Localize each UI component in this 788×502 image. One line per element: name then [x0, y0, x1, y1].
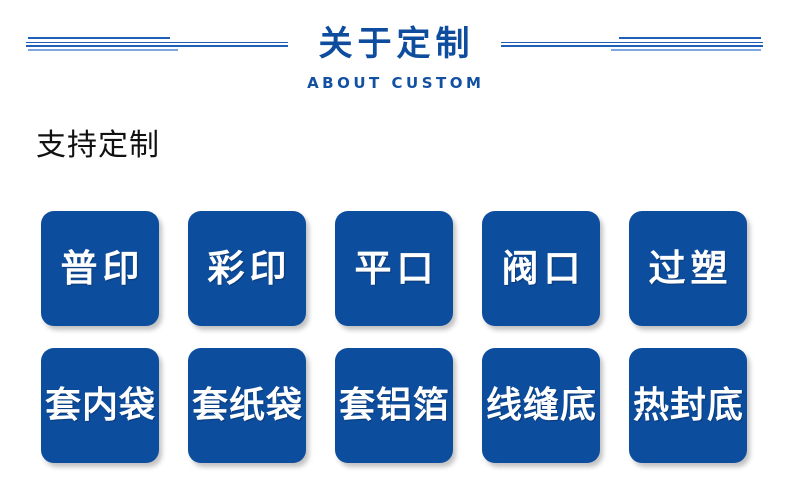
tile-label: 过塑	[644, 250, 733, 287]
deco-line-left-4	[28, 49, 178, 51]
tile-label: 普印	[56, 250, 145, 287]
section-title: 关于定制	[288, 27, 501, 61]
tile-label: 平口	[350, 250, 439, 287]
tile-label: 套纸袋	[191, 388, 303, 424]
deco-line-right-3	[501, 45, 763, 47]
deco-line-right-4	[611, 49, 761, 51]
tile-label: 彩印	[203, 250, 292, 287]
support-custom-heading: 支持定制	[36, 128, 160, 164]
option-tile-tao-zhi-dai[interactable]: 套纸袋	[188, 348, 306, 463]
option-tile-cai-yin[interactable]: 彩印	[188, 211, 306, 326]
option-tile-ping-kou[interactable]: 平口	[335, 211, 453, 326]
section-subtitle: ABOUT CUSTOM	[0, 74, 788, 92]
tile-label: 热封底	[632, 388, 744, 424]
option-tile-pu-yin[interactable]: 普印	[41, 211, 159, 326]
option-tile-tao-nei-dai[interactable]: 套内袋	[41, 348, 159, 463]
decorative-lines-left	[10, 33, 288, 55]
deco-line-left-1	[28, 37, 170, 39]
header-title-row: 关于定制	[0, 18, 788, 70]
option-tile-re-feng-di[interactable]: 热封底	[629, 348, 747, 463]
option-tile-xian-feng-di[interactable]: 线缝底	[482, 348, 600, 463]
tile-label: 套内袋	[44, 388, 156, 424]
option-tile-tao-lv-bo[interactable]: 套铝箔	[335, 348, 453, 463]
decorative-lines-right	[501, 33, 779, 55]
tile-label: 阀口	[497, 250, 586, 287]
tile-label: 套铝箔	[338, 388, 450, 424]
tile-label: 线缝底	[485, 388, 597, 424]
tile-row: 普印 彩印 平口 阀口 过塑	[41, 211, 751, 326]
deco-line-left-3	[26, 45, 288, 47]
tile-row: 套内袋 套纸袋 套铝箔 线缝底 热封底	[41, 348, 751, 463]
deco-line-left-2	[26, 42, 288, 43]
option-tile-fa-kou[interactable]: 阀口	[482, 211, 600, 326]
option-tile-guo-su[interactable]: 过塑	[629, 211, 747, 326]
deco-line-right-2	[501, 42, 763, 43]
section-header: 关于定制 ABOUT CUSTOM	[0, 0, 788, 110]
custom-options-grid: 普印 彩印 平口 阀口 过塑 套内袋 套纸袋 套铝箔 线缝底 热封底	[41, 211, 751, 485]
deco-line-right-1	[619, 37, 761, 39]
